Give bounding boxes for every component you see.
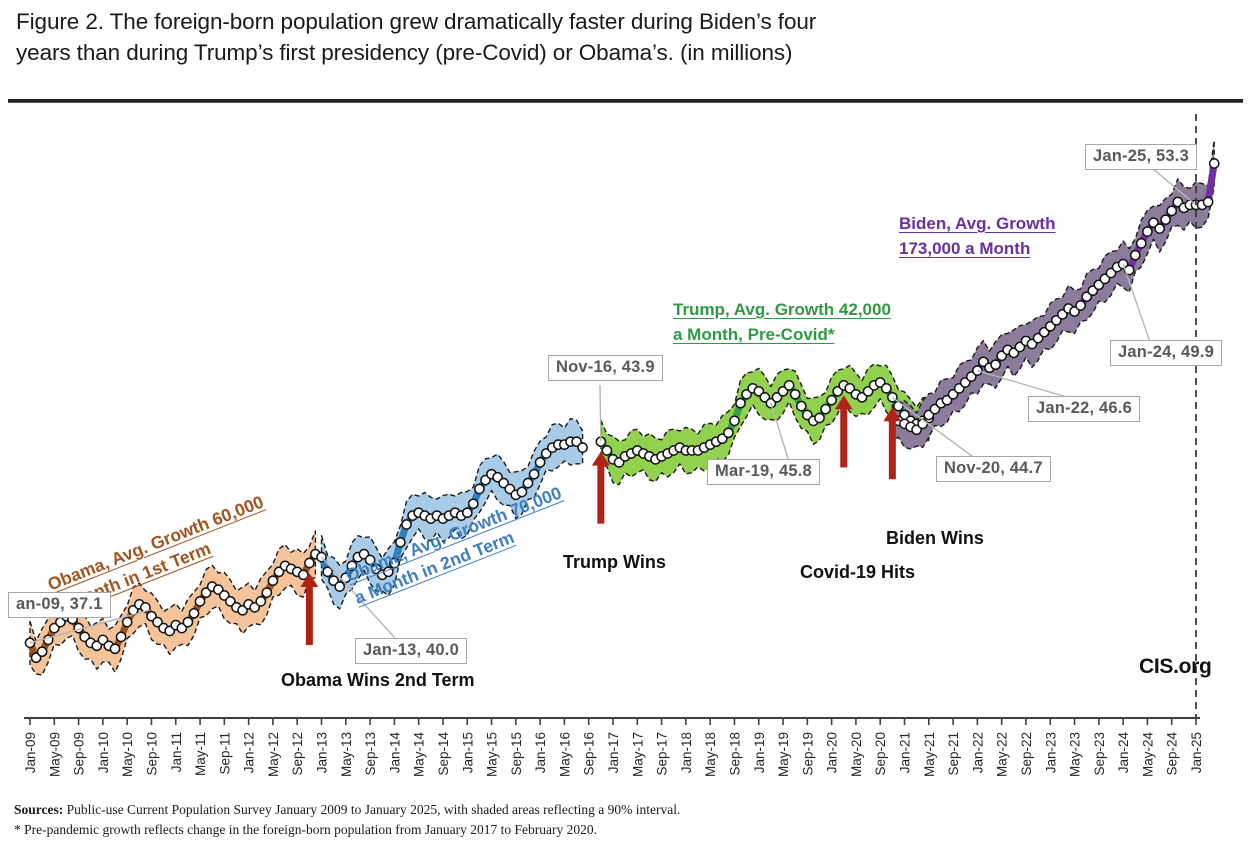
- svg-text:Jan-16: Jan-16: [533, 732, 548, 773]
- svg-text:Sep-20: Sep-20: [873, 732, 888, 776]
- annotation-trump-growth-line-1: Trump, Avg. Growth 42,000: [673, 297, 891, 322]
- svg-text:May-15: May-15: [485, 732, 500, 777]
- svg-text:Sep-17: Sep-17: [655, 732, 670, 776]
- svg-text:Jan-23: Jan-23: [1043, 732, 1058, 773]
- figure-page: Figure 2. The foreign-born population gr…: [0, 0, 1251, 854]
- svg-text:Sep-16: Sep-16: [582, 732, 597, 776]
- svg-text:May-10: May-10: [120, 732, 135, 777]
- svg-text:Jan-12: Jan-12: [242, 732, 257, 773]
- svg-text:May-16: May-16: [557, 732, 572, 777]
- svg-text:Jan-11: Jan-11: [169, 732, 184, 772]
- x-axis: [24, 718, 1200, 725]
- svg-text:Sep-12: Sep-12: [290, 732, 305, 776]
- event-label-covid-19-hits: Covid-19 Hits: [800, 562, 915, 583]
- annotation-trump-growth: Trump, Avg. Growth 42,000 a Month, Pre-C…: [673, 297, 891, 347]
- svg-text:Sep-18: Sep-18: [727, 732, 742, 776]
- callout-mar-19: Mar-19, 45.8: [707, 459, 820, 485]
- callout-nov-16: Nov-16, 43.9: [548, 355, 663, 381]
- svg-text:May-18: May-18: [703, 732, 718, 777]
- svg-text:May-11: May-11: [193, 732, 208, 776]
- figure-title: Figure 2. The foreign-born population gr…: [16, 6, 1221, 68]
- chart-area: Jan-09May-09Sep-09Jan-10May-10Sep-10Jan-…: [0, 110, 1251, 785]
- svg-text:Jan-20: Jan-20: [825, 732, 840, 773]
- event-label-obama-wins-2nd-term: Obama Wins 2nd Term: [281, 670, 475, 691]
- svg-text:Jan-24: Jan-24: [1116, 732, 1131, 774]
- svg-text:Jan-22: Jan-22: [970, 732, 985, 773]
- svg-text:Sep-21: Sep-21: [946, 732, 961, 776]
- svg-text:May-14: May-14: [412, 732, 427, 778]
- x-axis-tick-labels: Jan-09May-09Sep-09Jan-10May-10Sep-10Jan-…: [23, 732, 1204, 778]
- figure-title-line-2: years than during Trump’s first presiden…: [16, 37, 1221, 68]
- cis-watermark: CIS.org: [1139, 655, 1212, 679]
- svg-text:Jan-19: Jan-19: [752, 732, 767, 773]
- event-label-biden-wins: Biden Wins: [886, 528, 984, 549]
- svg-text:May-20: May-20: [849, 732, 864, 777]
- figure-title-line-1: Figure 2. The foreign-born population gr…: [16, 6, 1221, 37]
- svg-text:May-13: May-13: [339, 732, 354, 777]
- svg-text:Sep-23: Sep-23: [1092, 732, 1107, 776]
- svg-text:Jan-17: Jan-17: [606, 732, 621, 773]
- foreign-born-population-line-chart: Jan-09May-09Sep-09Jan-10May-10Sep-10Jan-…: [0, 110, 1251, 785]
- footnote-sources-text: Public-use Current Population Survey Jan…: [63, 802, 680, 817]
- callout-jan-22: Jan-22, 46.6: [1028, 396, 1140, 422]
- svg-text:May-09: May-09: [47, 732, 62, 777]
- annotation-biden-growth-line-2: 173,000 a Month: [899, 236, 1055, 261]
- svg-text:Sep-13: Sep-13: [363, 732, 378, 776]
- callout-nov-20: Nov-20, 44.7: [936, 456, 1051, 482]
- callout-jan-25: Jan-25, 53.3: [1085, 144, 1197, 170]
- annotation-trump-growth-line-2: a Month, Pre-Covid*: [673, 322, 891, 347]
- svg-text:May-21: May-21: [922, 732, 937, 777]
- figure-footnotes: Sources: Public-use Current Population S…: [14, 800, 1224, 840]
- svg-text:May-19: May-19: [776, 732, 791, 777]
- svg-text:Sep-09: Sep-09: [72, 732, 87, 776]
- svg-text:Jan-18: Jan-18: [679, 732, 694, 773]
- svg-text:Sep-19: Sep-19: [800, 732, 815, 776]
- svg-text:Jan-13: Jan-13: [315, 732, 330, 773]
- title-divider-thin: [8, 102, 1243, 103]
- svg-text:Sep-15: Sep-15: [509, 732, 524, 776]
- svg-text:Jan-25: Jan-25: [1189, 732, 1204, 773]
- svg-text:Sep-10: Sep-10: [144, 732, 159, 776]
- svg-text:Sep-24: Sep-24: [1165, 732, 1180, 776]
- svg-text:Sep-14: Sep-14: [436, 732, 451, 776]
- callout-jan-13: Jan-13, 40.0: [355, 638, 467, 664]
- svg-text:Jan-21: Jan-21: [898, 732, 913, 773]
- callout-jan-24: Jan-24, 49.9: [1110, 340, 1222, 366]
- svg-text:Sep-11: Sep-11: [217, 732, 232, 775]
- callout-jan-09: an-09, 37.1: [8, 592, 111, 618]
- svg-text:Sep-22: Sep-22: [1019, 732, 1034, 776]
- svg-text:May-22: May-22: [995, 732, 1010, 777]
- annotation-biden-growth: Biden, Avg. Growth 173,000 a Month: [899, 211, 1055, 261]
- svg-text:May-17: May-17: [630, 732, 645, 777]
- annotation-biden-growth-line-1: Biden, Avg. Growth: [899, 211, 1055, 236]
- svg-text:Jan-14: Jan-14: [387, 732, 402, 774]
- event-label-trump-wins: Trump Wins: [563, 552, 666, 573]
- footnote-sources: Sources: Public-use Current Population S…: [14, 800, 1224, 820]
- svg-text:Jan-09: Jan-09: [23, 732, 38, 773]
- footnote-star: * Pre-pandemic growth reflects change in…: [14, 820, 1224, 840]
- svg-text:May-24: May-24: [1140, 732, 1155, 778]
- svg-text:May-12: May-12: [266, 732, 281, 777]
- svg-text:May-23: May-23: [1068, 732, 1083, 777]
- svg-text:Jan-10: Jan-10: [96, 732, 111, 773]
- footnote-sources-label: Sources:: [14, 802, 63, 817]
- svg-text:Jan-15: Jan-15: [460, 732, 475, 773]
